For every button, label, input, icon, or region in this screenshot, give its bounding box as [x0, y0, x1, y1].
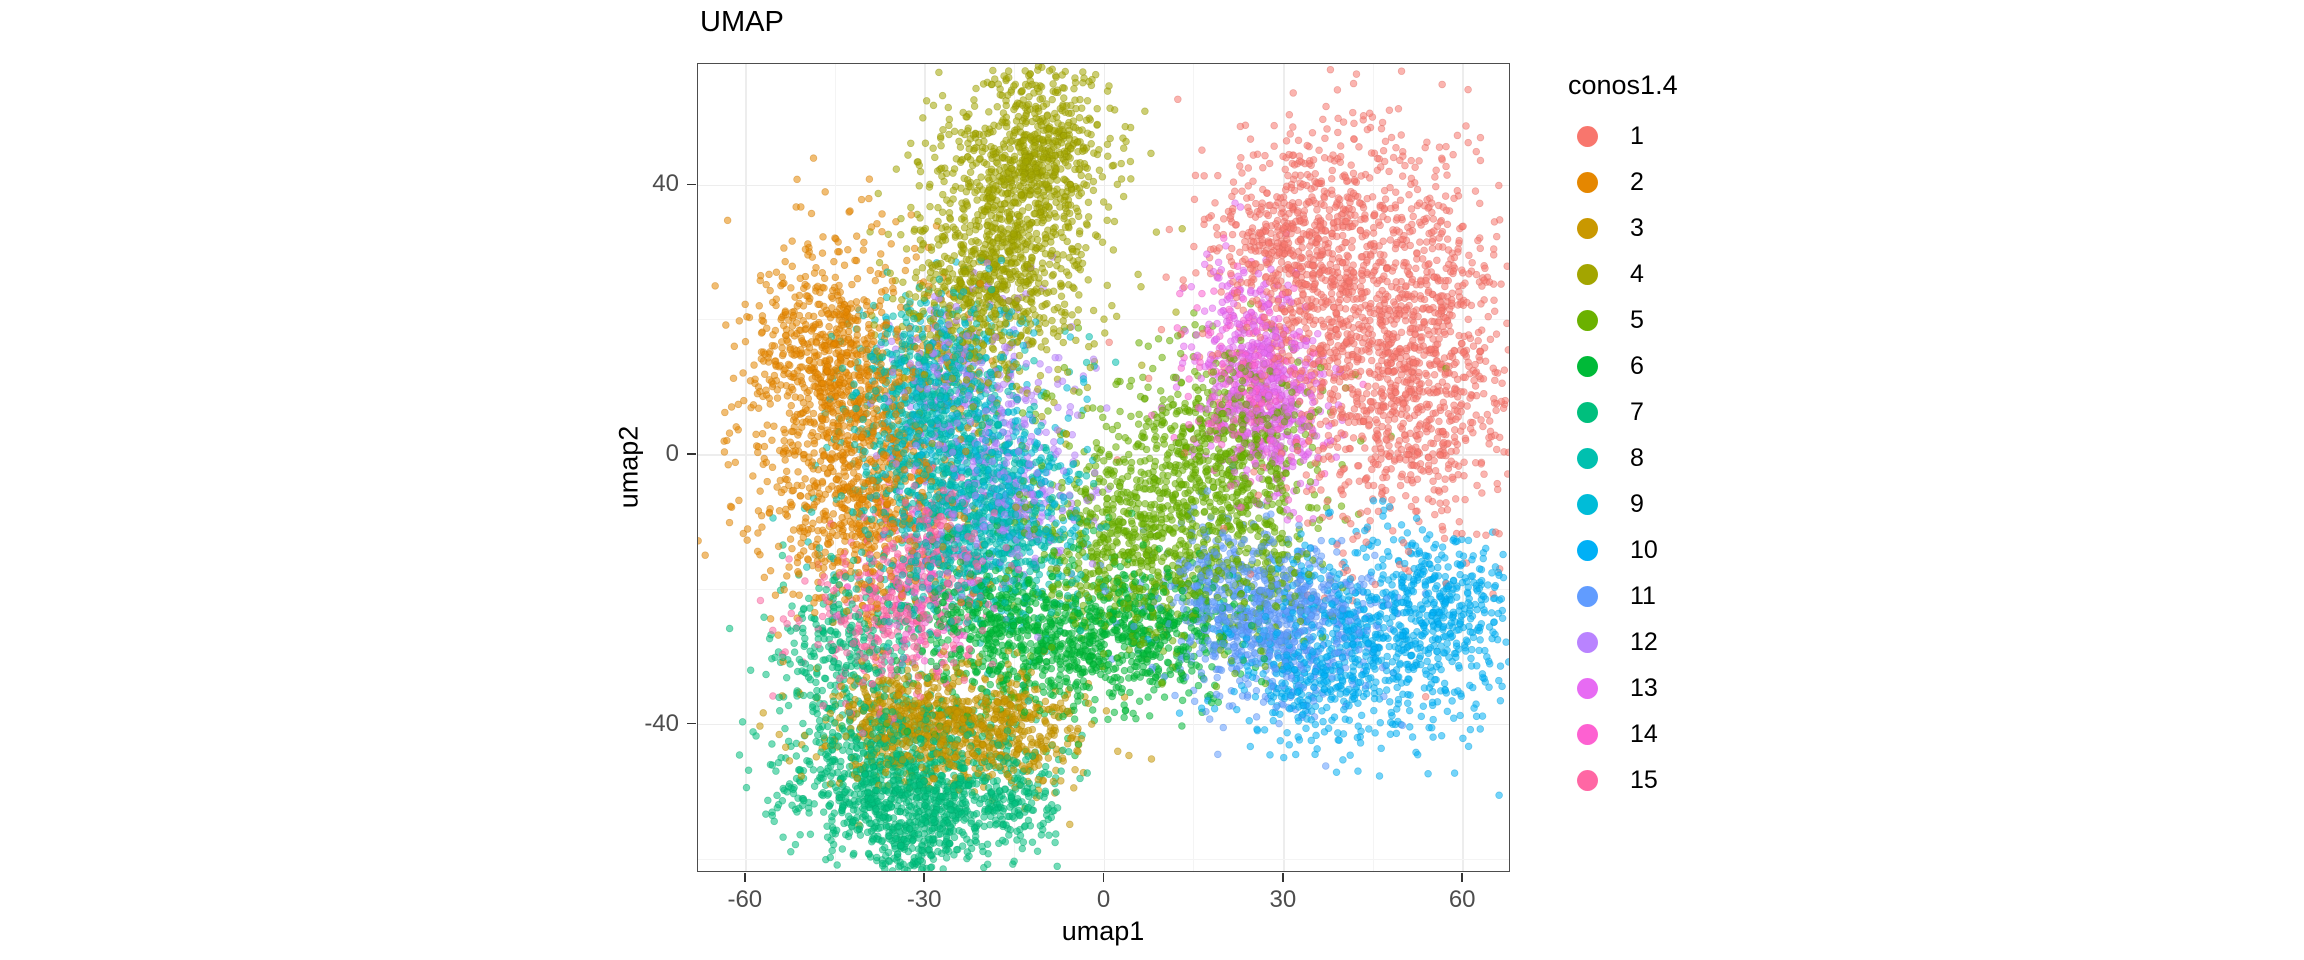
y-tick-mark	[687, 723, 696, 725]
legend-item-13[interactable]: 13	[1566, 665, 1678, 711]
y-tick-label: 40	[652, 170, 679, 198]
x-tick-mark	[744, 873, 746, 882]
scatter-points-layer	[698, 64, 1509, 871]
legend-item-6[interactable]: 6	[1566, 343, 1678, 389]
legend-key-dot-icon	[1566, 253, 1608, 295]
legend-key-dot-icon	[1566, 299, 1608, 341]
y-axis-label: umap2	[614, 426, 645, 509]
y-tick-label: 0	[666, 440, 679, 468]
legend-item-label: 6	[1630, 354, 1644, 379]
legend-item-label: 9	[1630, 492, 1644, 517]
legend-title: conos1.4	[1568, 72, 1678, 99]
legend-item-8[interactable]: 8	[1566, 435, 1678, 481]
legend-item-label: 12	[1630, 630, 1658, 655]
legend-key-dot-icon	[1566, 529, 1608, 571]
legend-item-3[interactable]: 3	[1566, 205, 1678, 251]
legend-item-4[interactable]: 4	[1566, 251, 1678, 297]
legend-key-dot-icon	[1566, 667, 1608, 709]
legend-key-dot-icon	[1566, 115, 1608, 157]
legend-item-7[interactable]: 7	[1566, 389, 1678, 435]
legend-item-label: 15	[1630, 768, 1658, 793]
legend-item-label: 13	[1630, 676, 1658, 701]
legend-item-label: 11	[1630, 584, 1656, 609]
legend: conos1.4 123456789101112131415	[1566, 72, 1678, 803]
y-tick-label: -40	[644, 710, 679, 738]
legend-item-label: 5	[1630, 308, 1644, 333]
legend-key-dot-icon	[1566, 207, 1608, 249]
x-tick-mark	[923, 873, 925, 882]
legend-key-dot-icon	[1566, 575, 1608, 617]
x-tick-label: 60	[1449, 886, 1476, 914]
legend-key-dot-icon	[1566, 345, 1608, 387]
legend-item-1[interactable]: 1	[1566, 113, 1678, 159]
legend-item-label: 4	[1630, 262, 1644, 287]
x-tick-mark	[1103, 873, 1105, 882]
plot-panel	[697, 63, 1510, 872]
y-tick-mark	[687, 453, 696, 455]
legend-item-label: 7	[1630, 400, 1644, 425]
umap-scatter-figure: UMAP -60-3003060400-40 umap1 umap2 conos…	[0, 0, 2304, 960]
x-tick-mark	[1282, 873, 1284, 882]
legend-key-dot-icon	[1566, 483, 1608, 525]
legend-item-10[interactable]: 10	[1566, 527, 1678, 573]
legend-key-dot-icon	[1566, 437, 1608, 479]
legend-item-label: 2	[1630, 170, 1644, 195]
legend-items: 123456789101112131415	[1566, 113, 1678, 803]
x-tick-label: -30	[907, 886, 942, 914]
x-tick-label: 0	[1097, 886, 1110, 914]
legend-key-dot-icon	[1566, 161, 1608, 203]
legend-item-label: 10	[1630, 538, 1658, 563]
legend-key-dot-icon	[1566, 759, 1608, 801]
legend-item-14[interactable]: 14	[1566, 711, 1678, 757]
x-axis-label: umap1	[1062, 916, 1145, 947]
x-tick-label: 30	[1269, 886, 1296, 914]
legend-key-dot-icon	[1566, 713, 1608, 755]
legend-item-5[interactable]: 5	[1566, 297, 1678, 343]
legend-item-15[interactable]: 15	[1566, 757, 1678, 803]
legend-item-label: 3	[1630, 216, 1644, 241]
y-tick-mark	[687, 184, 696, 186]
legend-key-dot-icon	[1566, 621, 1608, 663]
legend-item-label: 1	[1630, 124, 1644, 149]
legend-item-12[interactable]: 12	[1566, 619, 1678, 665]
legend-item-label: 14	[1630, 722, 1658, 747]
legend-item-label: 8	[1630, 446, 1644, 471]
legend-item-11[interactable]: 11	[1566, 573, 1678, 619]
x-tick-label: -60	[727, 886, 762, 914]
legend-item-2[interactable]: 2	[1566, 159, 1678, 205]
legend-key-dot-icon	[1566, 391, 1608, 433]
page-title: UMAP	[700, 7, 784, 39]
legend-item-9[interactable]: 9	[1566, 481, 1678, 527]
x-tick-mark	[1461, 873, 1463, 882]
